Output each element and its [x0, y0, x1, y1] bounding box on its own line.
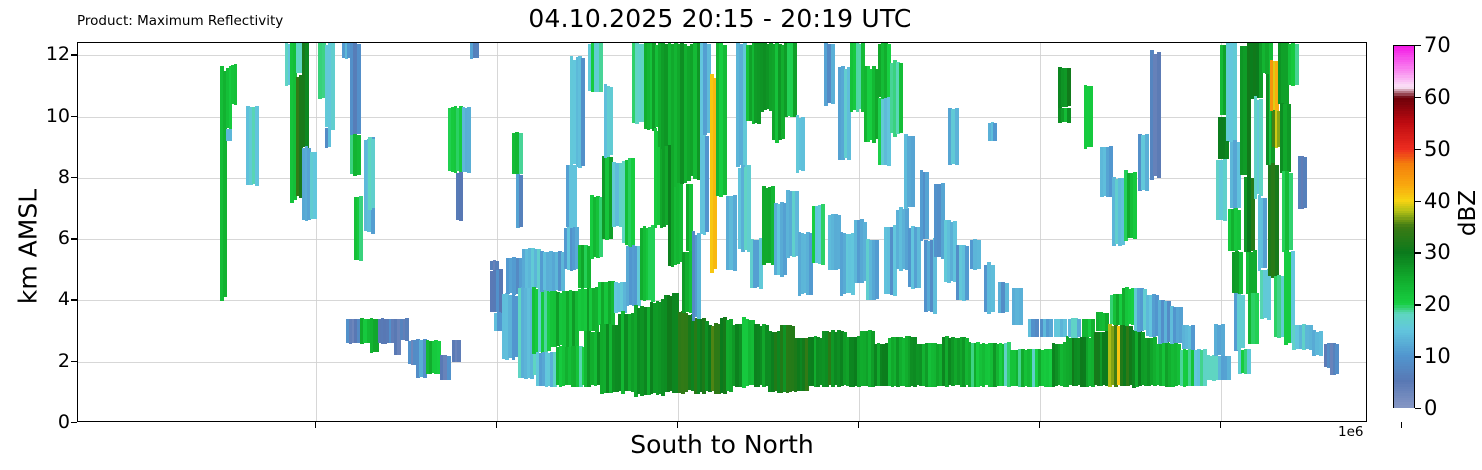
y-tick-mark [71, 361, 77, 362]
x-tick-mark [677, 422, 678, 428]
reflectivity-cell [357, 135, 361, 176]
colorbar-unit-label: dBZ [1455, 153, 1481, 273]
reflectivity-cell [599, 43, 602, 91]
y-tick-mark [71, 116, 77, 117]
reflectivity-cell [1145, 134, 1149, 191]
y-tick-label: 2 [58, 350, 70, 372]
reflectivity-cell [1067, 68, 1071, 106]
reflectivity-cell [1089, 86, 1092, 147]
x-axis-offset-text: 1e6 [1338, 424, 1363, 440]
reflectivity-cell [955, 108, 959, 166]
reflectivity-cell [697, 233, 700, 319]
reflectivity-cell [475, 43, 478, 58]
colorbar-tick-mark [1415, 252, 1421, 253]
colorbar-tick-mark [1415, 304, 1421, 305]
colorbar-tick-label: 60 [1424, 85, 1451, 109]
colorbar-band [1394, 405, 1414, 409]
reflectivity-cell [1247, 349, 1251, 374]
colorbar-tick-label: 50 [1424, 137, 1451, 161]
reflectivity-cell [1077, 319, 1081, 337]
reflectivity-cell [1233, 43, 1237, 141]
reflectivity-cell [925, 172, 928, 239]
page-title: 04.10.2025 20:15 - 20:19 UTC [0, 4, 1440, 33]
reflectivity-cell [793, 43, 797, 117]
colorbar-tick-mark [1415, 149, 1421, 150]
reflectivity-cell [313, 152, 317, 220]
reflectivity-cell [801, 117, 804, 171]
reflectivity-cell [519, 133, 523, 174]
reflectivity-cell [1157, 52, 1161, 179]
y-tick-mark [71, 177, 77, 178]
reflectivity-cell [234, 64, 237, 105]
reflectivity-cell [1237, 210, 1241, 251]
reflectivity-cell [1335, 344, 1338, 374]
reflectivity-cell [1067, 108, 1071, 123]
reflectivity-cell [723, 45, 727, 195]
reflectivity-cell [459, 172, 463, 221]
colorbar-tick-mark [1415, 408, 1421, 409]
reflectivity-cell [581, 58, 584, 166]
reflectivity-cell [1295, 44, 1299, 86]
reflectivity-cell [1287, 104, 1291, 172]
colorbar-tick-mark [1415, 356, 1421, 357]
x-tick-mark [1220, 422, 1221, 428]
reflectivity-cell [911, 136, 915, 207]
plot-area [77, 42, 1367, 422]
colorbar-tick-label: 20 [1424, 292, 1451, 316]
reflectivity-cell [1035, 319, 1039, 338]
y-tick-label: 0 [58, 411, 70, 433]
reflectivity-cell [1255, 293, 1259, 344]
colorbar-tick-label: 40 [1424, 189, 1451, 213]
y-axis-label: km AMSL [14, 147, 43, 347]
reflectivity-cell [1221, 324, 1225, 356]
reflectivity-cell [1019, 288, 1023, 324]
reflectivity-cell [1263, 198, 1266, 269]
reflectivity-cell [993, 123, 996, 141]
reflectivity-cell [1133, 172, 1137, 239]
reflectivity-cell [229, 129, 232, 142]
colorbar-tick-label: 10 [1424, 344, 1451, 368]
reflectivity-echo-layer [78, 43, 1366, 421]
reflectivity-cell [1049, 319, 1053, 337]
y-tick-label: 8 [58, 166, 70, 188]
reflectivity-cell [359, 196, 362, 262]
reflectivity-cell [457, 340, 460, 361]
colorbar-tick-label: 30 [1424, 240, 1451, 264]
reflectivity-cell [991, 265, 995, 312]
colorbar-tick-mark [1415, 201, 1421, 202]
reflectivity-cell [1259, 99, 1262, 196]
reflectivity-cell [831, 44, 835, 104]
colorbar-gradient [1393, 45, 1415, 408]
x-tick-mark [858, 422, 859, 428]
y-tick-label: 4 [58, 288, 70, 310]
colorbar-tick-mark [1415, 97, 1421, 98]
reflectivity-cell [733, 195, 737, 270]
reflectivity-cell [1319, 331, 1323, 356]
y-tick-mark [71, 422, 77, 423]
x-axis-label: South to North [77, 430, 1367, 459]
reflectivity-cell [1239, 252, 1243, 294]
reflectivity-cell [519, 175, 523, 227]
reflectivity-cell [328, 129, 331, 148]
reflectivity-cell [705, 136, 708, 233]
reflectivity-cell [331, 42, 335, 130]
reflectivity-cell [447, 356, 451, 380]
reflectivity-cell [1267, 269, 1271, 320]
x-tick-mark [315, 422, 316, 428]
reflectivity-cell [875, 240, 879, 299]
reflectivity-cell [1063, 319, 1067, 337]
reflectivity-cell [1191, 325, 1195, 350]
reflectivity-cell [1289, 173, 1293, 250]
y-tick-label: 6 [58, 227, 70, 249]
reflectivity-cell [821, 204, 825, 265]
colorbar-tick-label: 70 [1424, 33, 1451, 57]
reflectivity-cell [977, 240, 981, 269]
reflectivity-cell [651, 225, 654, 302]
y-tick-label: 12 [46, 43, 70, 65]
y-tick-label: 10 [46, 105, 70, 127]
reflectivity-cell [467, 107, 470, 173]
reflectivity-cell [609, 87, 612, 155]
colorbar-tick-label: 0 [1424, 396, 1437, 420]
x-tick-mark [1401, 422, 1402, 428]
x-tick-mark [496, 422, 497, 428]
reflectivity-cell [405, 318, 408, 341]
reflectivity-cell [1253, 250, 1257, 295]
x-tick-mark [1039, 422, 1040, 428]
reflectivity-cell [1303, 157, 1306, 208]
colorbar-tick-mark [1415, 45, 1421, 46]
reflectivity-cell [357, 44, 361, 134]
reflectivity-cell [255, 106, 259, 186]
y-tick-mark [71, 299, 77, 300]
colorbar [1393, 45, 1415, 408]
reflectivity-cell [573, 165, 577, 227]
reflectivity-cell [965, 246, 969, 300]
radar-cross-section-figure: Product: Maximum Reflectivity 04.10.2025… [0, 0, 1482, 470]
reflectivity-cell [1275, 165, 1279, 276]
reflectivity-cell [1241, 295, 1245, 348]
reflectivity-cell [631, 158, 635, 246]
y-tick-mark [71, 54, 77, 55]
reflectivity-cell [1227, 356, 1231, 380]
reflectivity-cell [371, 139, 375, 208]
y-tick-mark [71, 238, 77, 239]
reflectivity-cell [305, 42, 309, 149]
reflectivity-cell [899, 63, 903, 133]
reflectivity-cell [1005, 283, 1009, 312]
reflectivity-cell [1223, 159, 1227, 222]
